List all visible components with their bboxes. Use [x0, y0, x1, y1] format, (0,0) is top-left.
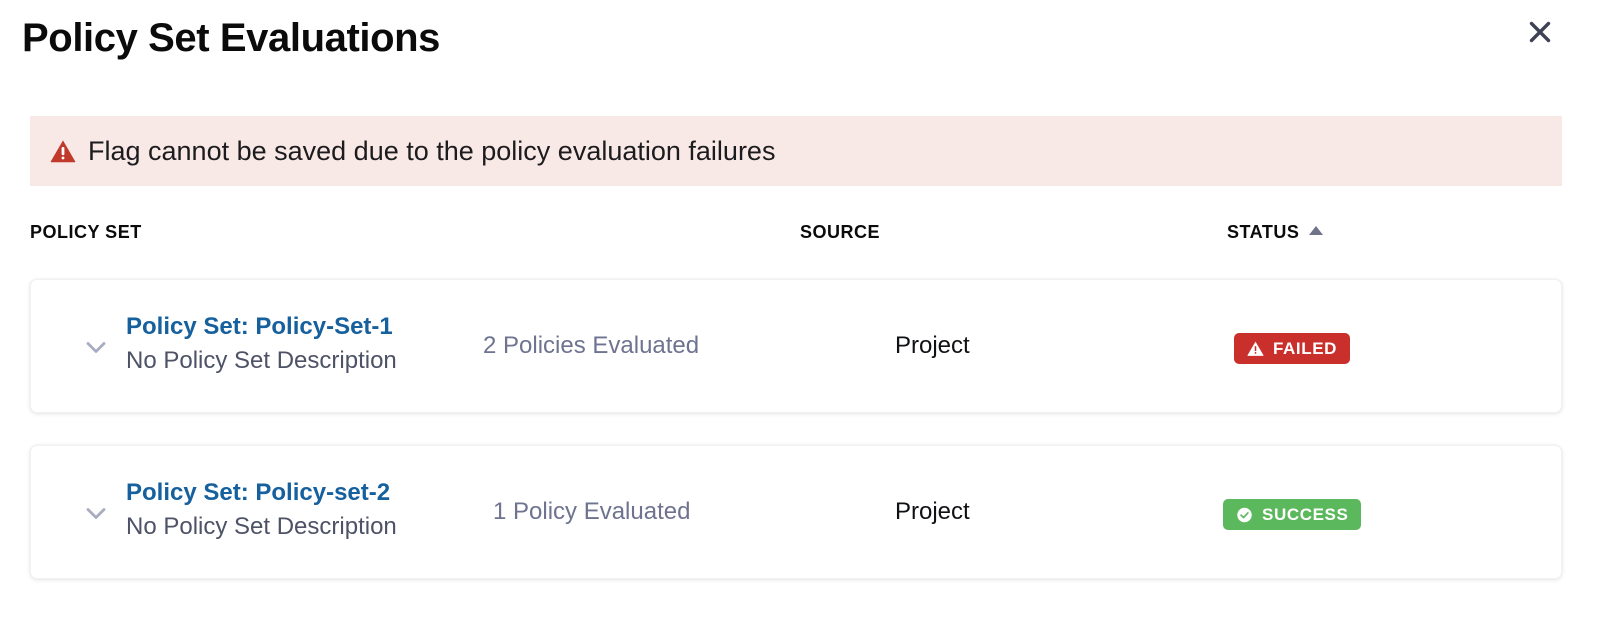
status-badge-label: SUCCESS: [1262, 505, 1348, 525]
source-value: Project: [895, 498, 970, 526]
expand-row-button[interactable]: [79, 330, 113, 364]
status-badge: FAILED: [1234, 333, 1350, 364]
policy-set-link[interactable]: Policy Set: Policy-set-2: [126, 477, 466, 509]
source-value: Project: [895, 332, 970, 360]
close-icon: [1526, 18, 1554, 46]
column-header-policy-set[interactable]: POLICY SET: [30, 222, 142, 243]
error-alert-banner: Flag cannot be saved due to the policy e…: [30, 116, 1562, 186]
warning-triangle-icon: [50, 138, 76, 164]
column-header-source[interactable]: SOURCE: [800, 222, 880, 243]
column-header-status-label: STATUS: [1227, 222, 1299, 243]
policy-set-cell: Policy Set: Policy-Set-1 No Policy Set D…: [126, 311, 466, 377]
column-header-status[interactable]: STATUS: [1227, 222, 1323, 243]
policies-evaluated-count: 2 Policies Evaluated: [483, 332, 699, 360]
policy-set-description: No Policy Set Description: [126, 345, 466, 377]
table-row[interactable]: Policy Set: Policy-Set-1 No Policy Set D…: [30, 279, 1562, 413]
warning-triangle-icon: [1247, 340, 1264, 357]
policies-evaluated-count: 1 Policy Evaluated: [493, 498, 690, 526]
status-badge: SUCCESS: [1223, 499, 1361, 530]
policy-set-link[interactable]: Policy Set: Policy-Set-1: [126, 311, 466, 343]
check-circle-icon: [1236, 506, 1253, 523]
chevron-down-icon: [81, 332, 111, 362]
policy-set-evaluations-modal: Policy Set Evaluations Flag cannot be sa…: [0, 0, 1600, 623]
policy-set-description: No Policy Set Description: [126, 511, 466, 543]
chevron-down-icon: [81, 498, 111, 528]
policy-set-cell: Policy Set: Policy-set-2 No Policy Set D…: [126, 477, 466, 543]
table-row[interactable]: Policy Set: Policy-set-2 No Policy Set D…: [30, 445, 1562, 579]
expand-row-button[interactable]: [79, 496, 113, 530]
close-button[interactable]: [1522, 14, 1558, 50]
error-alert-message: Flag cannot be saved due to the policy e…: [88, 135, 775, 167]
table-header-row: POLICY SET SOURCE STATUS: [0, 218, 1600, 252]
status-badge-label: FAILED: [1273, 339, 1337, 359]
sort-ascending-icon: [1309, 226, 1323, 235]
page-title: Policy Set Evaluations: [22, 16, 440, 60]
